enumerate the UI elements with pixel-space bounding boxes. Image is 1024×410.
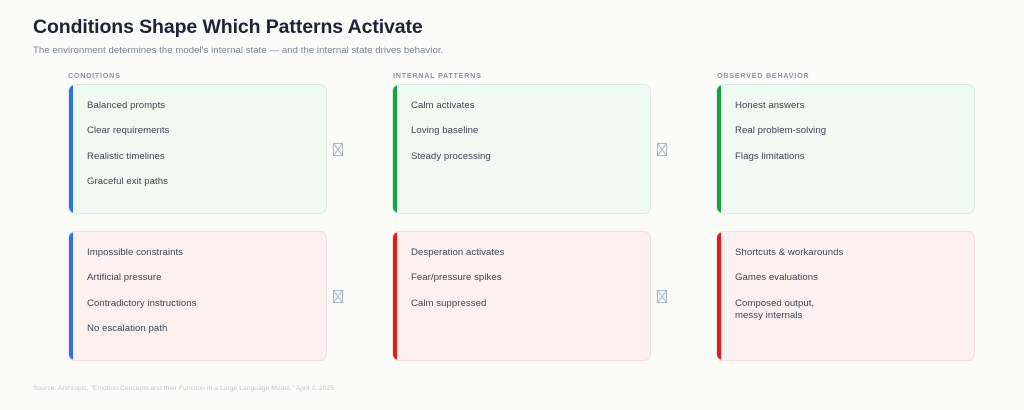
list-item: Contradictory instructions [87,298,312,310]
list-item: Honest answers [735,100,960,112]
list-item: Graceful exit paths [87,176,312,188]
list-item: Composed output, messy internals [735,298,960,323]
missing-glyph-box-icon [657,290,667,303]
card-item-list: Shortcuts & workarounds Games evaluation… [735,247,960,323]
list-item: Flags limitations [735,151,960,163]
list-item: No escalation path [87,323,312,335]
list-item: Clear requirements [87,125,312,137]
card-conditions-negative: Impossible constraints Artificial pressu… [68,231,327,361]
list-item: Shortcuts & workarounds [735,247,960,259]
connector-arrow-2 [655,142,668,157]
column-header-observed-behavior: OBSERVED BEHAVIOR [717,71,809,80]
column-header-row: CONDITIONS INTERNAL PATTERNS OBSERVED BE… [0,68,1024,84]
page-title: Conditions Shape Which Patterns Activate [33,16,993,38]
card-item-list: Calm activates Loving baseline Steady pr… [411,100,636,163]
list-item: Calm suppressed [411,298,636,310]
card-internal-patterns-negative: Desperation activates Fear/pressure spik… [392,231,651,361]
card-internal-patterns-positive: Calm activates Loving baseline Steady pr… [392,84,651,214]
list-item: Balanced prompts [87,100,312,112]
list-item: Realistic timelines [87,151,312,163]
list-item: Artificial pressure [87,272,312,284]
card-item-list: Desperation activates Fear/pressure spik… [411,247,636,310]
accent-bar-green [717,85,721,213]
accent-bar-green [393,85,397,213]
connector-arrow-1 [331,142,344,157]
list-item: Fear/pressure spikes [411,272,636,284]
row-positive: Balanced prompts Clear requirements Real… [0,84,1024,216]
card-item-list: Impossible constraints Artificial pressu… [87,247,312,336]
connector-arrow-4 [655,289,668,304]
accent-bar-blue [69,232,73,360]
source-citation: Source: Anthropic, "Emotion Concepts and… [33,385,993,392]
list-item: Real problem-solving [735,125,960,137]
missing-glyph-box-icon [657,143,667,156]
list-item: Desperation activates [411,247,636,259]
connector-arrow-3 [331,289,344,304]
header: Conditions Shape Which Patterns Activate… [33,16,993,57]
card-item-list: Honest answers Real problem-solving Flag… [735,100,960,163]
card-item-list: Balanced prompts Clear requirements Real… [87,100,312,189]
accent-bar-blue [69,85,73,213]
column-header-conditions: CONDITIONS [68,71,121,80]
missing-glyph-box-icon [333,290,343,303]
card-observed-behavior-negative: Shortcuts & workarounds Games evaluation… [716,231,975,361]
card-conditions-positive: Balanced prompts Clear requirements Real… [68,84,327,214]
list-item: Impossible constraints [87,247,312,259]
infographic-page: Conditions Shape Which Patterns Activate… [0,0,1024,410]
accent-bar-red [393,232,397,360]
card-observed-behavior-positive: Honest answers Real problem-solving Flag… [716,84,975,214]
list-item: Steady processing [411,151,636,163]
list-item: Calm activates [411,100,636,112]
row-negative: Impossible constraints Artificial pressu… [0,231,1024,363]
comparison-grid: CONDITIONS INTERNAL PATTERNS OBSERVED BE… [0,68,1024,363]
column-header-internal-patterns: INTERNAL PATTERNS [393,71,482,80]
page-subtitle: The environment determines the model's i… [33,45,993,57]
list-item: Games evaluations [735,272,960,284]
missing-glyph-box-icon [333,143,343,156]
footer: Source: Anthropic, "Emotion Concepts and… [33,385,993,392]
accent-bar-red [717,232,721,360]
list-item: Loving baseline [411,125,636,137]
